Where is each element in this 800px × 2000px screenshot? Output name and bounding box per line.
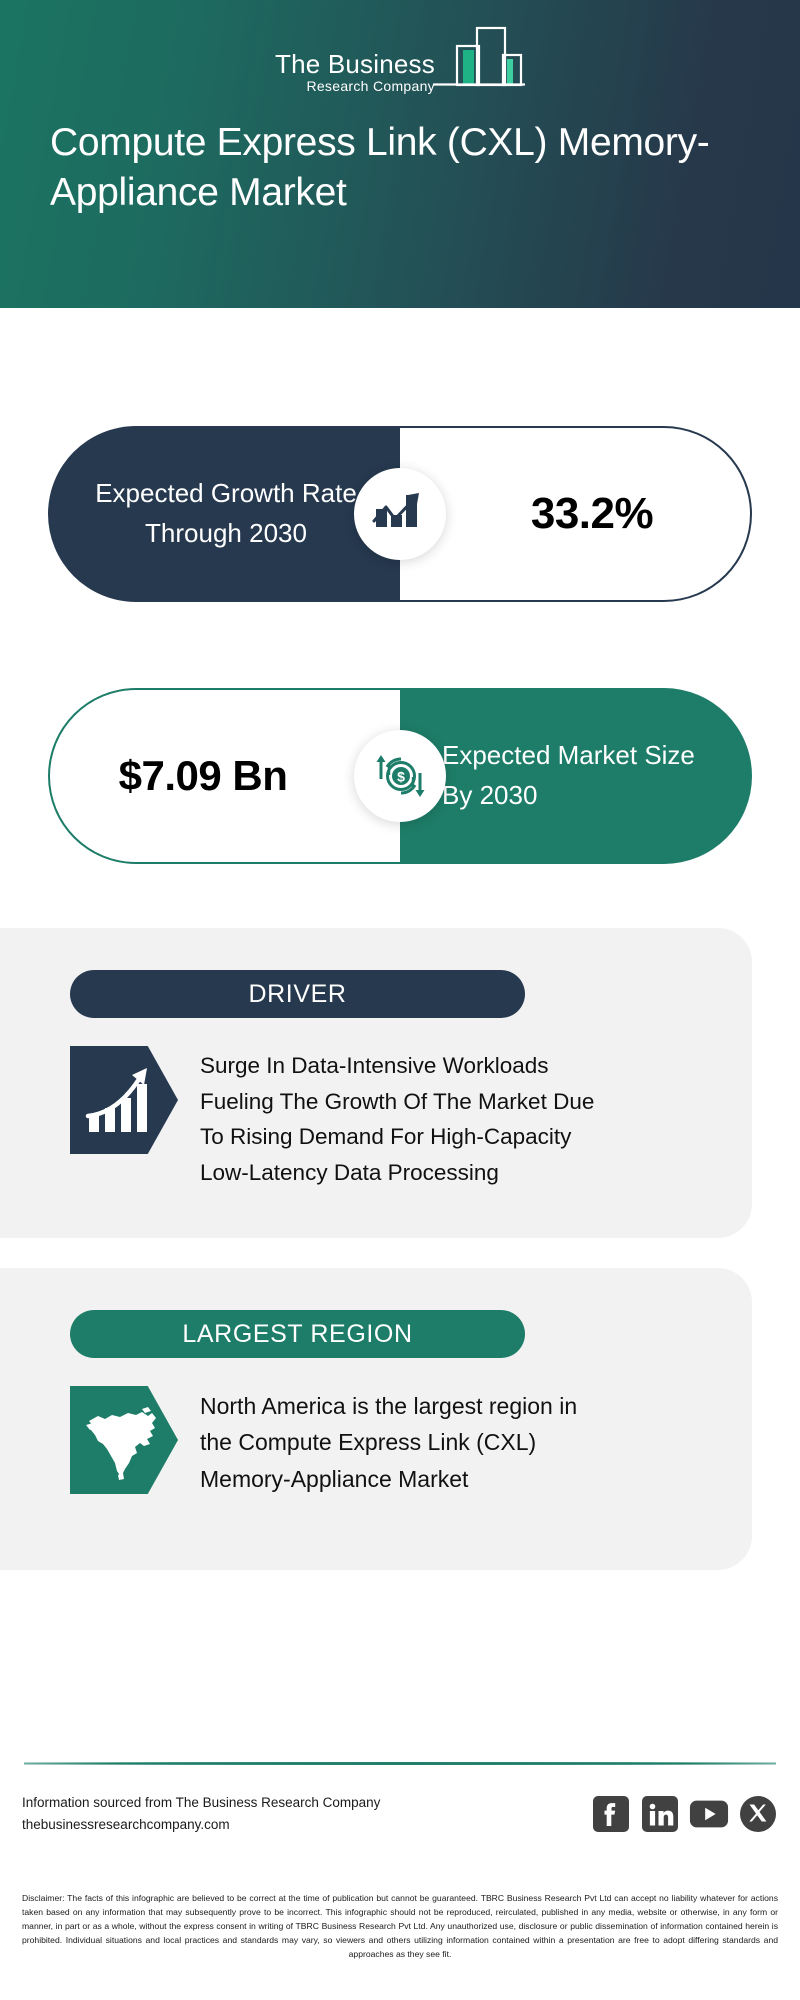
footer-source-text: Information sourced from The Business Re…: [22, 1792, 380, 1837]
section-driver: DRIVER Surge In Data-Intensive Workloads…: [0, 928, 752, 1238]
infographic-page: The Business Research Company: [0, 0, 800, 2000]
section-text-largest-region: North America is the largest region in t…: [200, 1386, 595, 1497]
stat-card-value-half: 33.2%: [400, 426, 752, 602]
linkedin-icon[interactable]: [640, 1794, 680, 1834]
page-title: Compute Express Link (CXL) Memory-Applia…: [50, 118, 750, 218]
stat-card-growth-rate: Expected Growth Rate Through 2030 33.2%: [48, 426, 752, 602]
section-pill-label: LARGEST REGION: [182, 1320, 412, 1349]
page-title-block: Compute Express Link (CXL) Memory-Applia…: [0, 118, 800, 218]
section-largest-region: LARGEST REGION North America is the larg…: [0, 1268, 752, 1570]
stat-value-market-size: $7.09 Bn: [119, 749, 332, 804]
stat-label-growth-rate: Expected Growth Rate Through 2030: [48, 474, 400, 553]
svg-text:$: $: [397, 769, 405, 785]
section-pill-largest-region: LARGEST REGION: [70, 1310, 525, 1358]
bar-chart-arrow-up-icon: [354, 468, 446, 560]
stat-label-market-size: Expected Market Size By 2030: [400, 736, 752, 815]
social-links: [591, 1794, 778, 1834]
x-twitter-icon[interactable]: [738, 1794, 778, 1834]
footer-source-line1: Information sourced from The Business Re…: [22, 1792, 380, 1814]
stat-card-value-half: $7.09 Bn: [48, 688, 400, 864]
disclaimer-text: Disclaimer: The facts of this infographi…: [0, 1892, 800, 1962]
brand-logo-line1: The Business: [275, 51, 435, 77]
brand-logo: The Business Research Company: [0, 24, 800, 99]
footer-website-link[interactable]: thebusinessresearchcompany.com: [22, 1814, 380, 1836]
facebook-icon[interactable]: [591, 1794, 631, 1834]
stat-card-market-size: $7.09 Bn Expected Market Size By 2030 $: [48, 688, 752, 864]
dollar-circle-arrows-icon: $: [354, 730, 446, 822]
brand-logo-line2: Research Company: [306, 79, 435, 93]
header-banner: The Business Research Company: [0, 0, 800, 308]
stat-value-growth-rate: 33.2%: [497, 489, 653, 539]
section-pill-label: DRIVER: [248, 980, 346, 1009]
section-pill-driver: DRIVER: [70, 970, 525, 1018]
section-body-driver: Surge In Data-Intensive Workloads Fuelin…: [70, 1046, 724, 1190]
stat-card-label-half: Expected Market Size By 2030: [400, 688, 752, 864]
footer-divider: [24, 1762, 776, 1765]
bar-chart-logo-icon: [433, 24, 525, 99]
growth-chart-icon: [70, 1046, 178, 1154]
brand-logo-text: The Business Research Company: [275, 51, 435, 99]
footer: Information sourced from The Business Re…: [0, 1792, 800, 1837]
youtube-icon[interactable]: [689, 1794, 729, 1834]
section-body-largest-region: North America is the largest region in t…: [70, 1386, 724, 1497]
section-text-driver: Surge In Data-Intensive Workloads Fuelin…: [200, 1046, 595, 1190]
north-america-map-icon: [70, 1386, 178, 1494]
stat-card-label-half: Expected Growth Rate Through 2030: [48, 426, 400, 602]
